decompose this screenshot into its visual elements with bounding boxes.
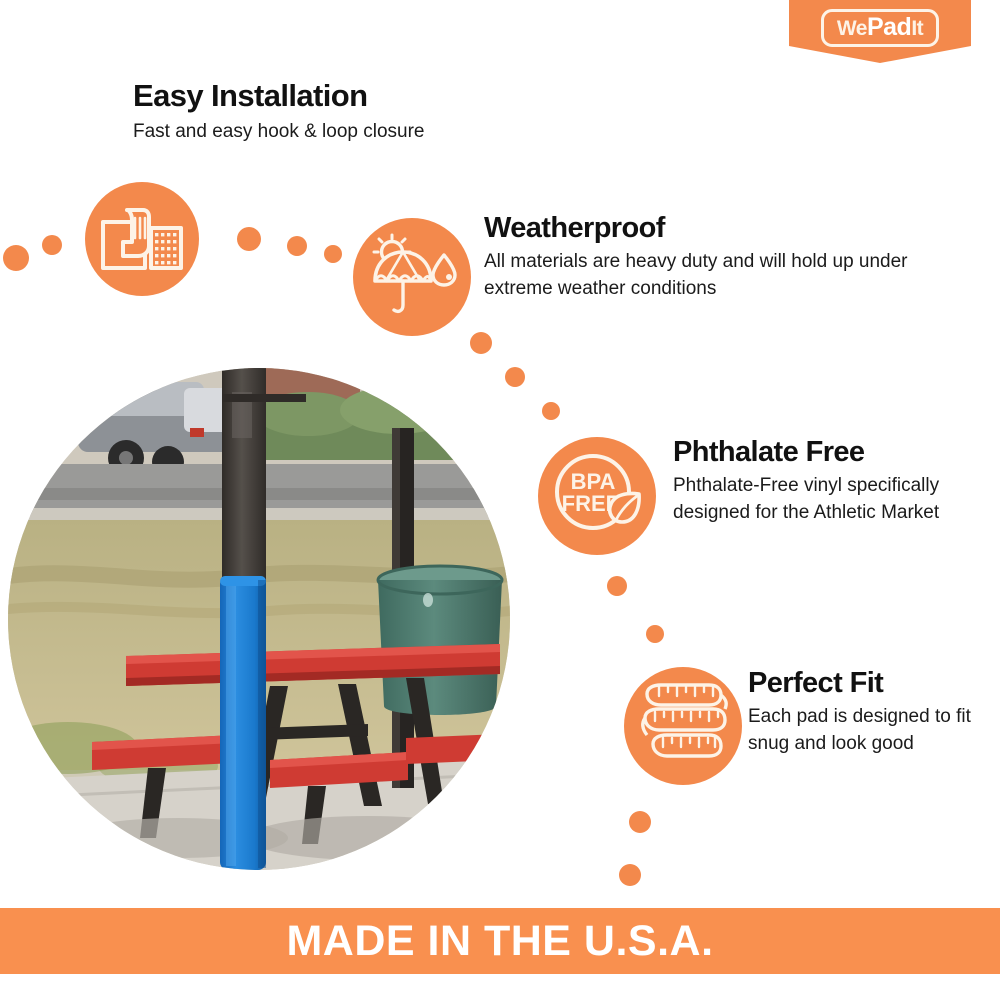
path-dot xyxy=(42,235,62,255)
feature-weatherproof: Weatherproof All materials are heavy dut… xyxy=(484,213,914,303)
made-in-usa-banner: MADE IN THE U.S.A. xyxy=(0,908,1000,974)
sun-umbrella-raindrop-icon xyxy=(353,218,471,336)
feature-desc-easy-installation: Fast and easy hook & loop closure xyxy=(133,119,563,146)
wepadit-logo-badge: We Pad It xyxy=(789,0,971,63)
feature-desc-phthalate-free: Phthalate-Free vinyl specifically design… xyxy=(673,473,983,527)
feature-title-phthalate-free: Phthalate Free xyxy=(673,437,983,467)
feature-desc-weatherproof: All materials are heavy duty and will ho… xyxy=(484,249,914,303)
path-dot xyxy=(324,245,342,263)
product-photo xyxy=(8,368,510,870)
bpa-free-leaf-icon: BPA FREE xyxy=(538,437,656,555)
path-dot xyxy=(505,367,525,387)
path-dot xyxy=(629,811,651,833)
measuring-tape-icon xyxy=(624,667,742,785)
path-dot xyxy=(619,864,641,886)
feature-title-easy-installation: Easy Installation xyxy=(133,80,563,113)
feature-title-weatherproof: Weatherproof xyxy=(484,213,914,243)
made-in-usa-text: MADE IN THE U.S.A. xyxy=(286,920,713,963)
hook-and-loop-icon xyxy=(85,182,199,296)
feature-title-perfect-fit: Perfect Fit xyxy=(748,668,988,698)
logo-text-pad: Pad xyxy=(867,15,911,40)
path-dot xyxy=(542,402,560,420)
path-dot xyxy=(607,576,627,596)
logo-inner-frame: We Pad It xyxy=(821,9,939,47)
feature-phthalate-free: Phthalate Free Phthalate-Free vinyl spec… xyxy=(673,437,983,527)
logo-text-it: It xyxy=(911,18,923,39)
path-dot xyxy=(287,236,307,256)
infographic-page: We Pad It Easy Installation Fast and eas… xyxy=(0,0,1000,987)
path-dot xyxy=(646,625,664,643)
path-dot xyxy=(3,245,29,271)
feature-desc-perfect-fit: Each pad is designed to fit snug and loo… xyxy=(748,704,988,758)
path-dot xyxy=(470,332,492,354)
path-dot xyxy=(237,227,261,251)
feature-perfect-fit: Perfect Fit Each pad is designed to fit … xyxy=(748,668,988,758)
logo-text-we: We xyxy=(837,18,867,39)
feature-easy-installation: Easy Installation Fast and easy hook & l… xyxy=(133,80,563,146)
